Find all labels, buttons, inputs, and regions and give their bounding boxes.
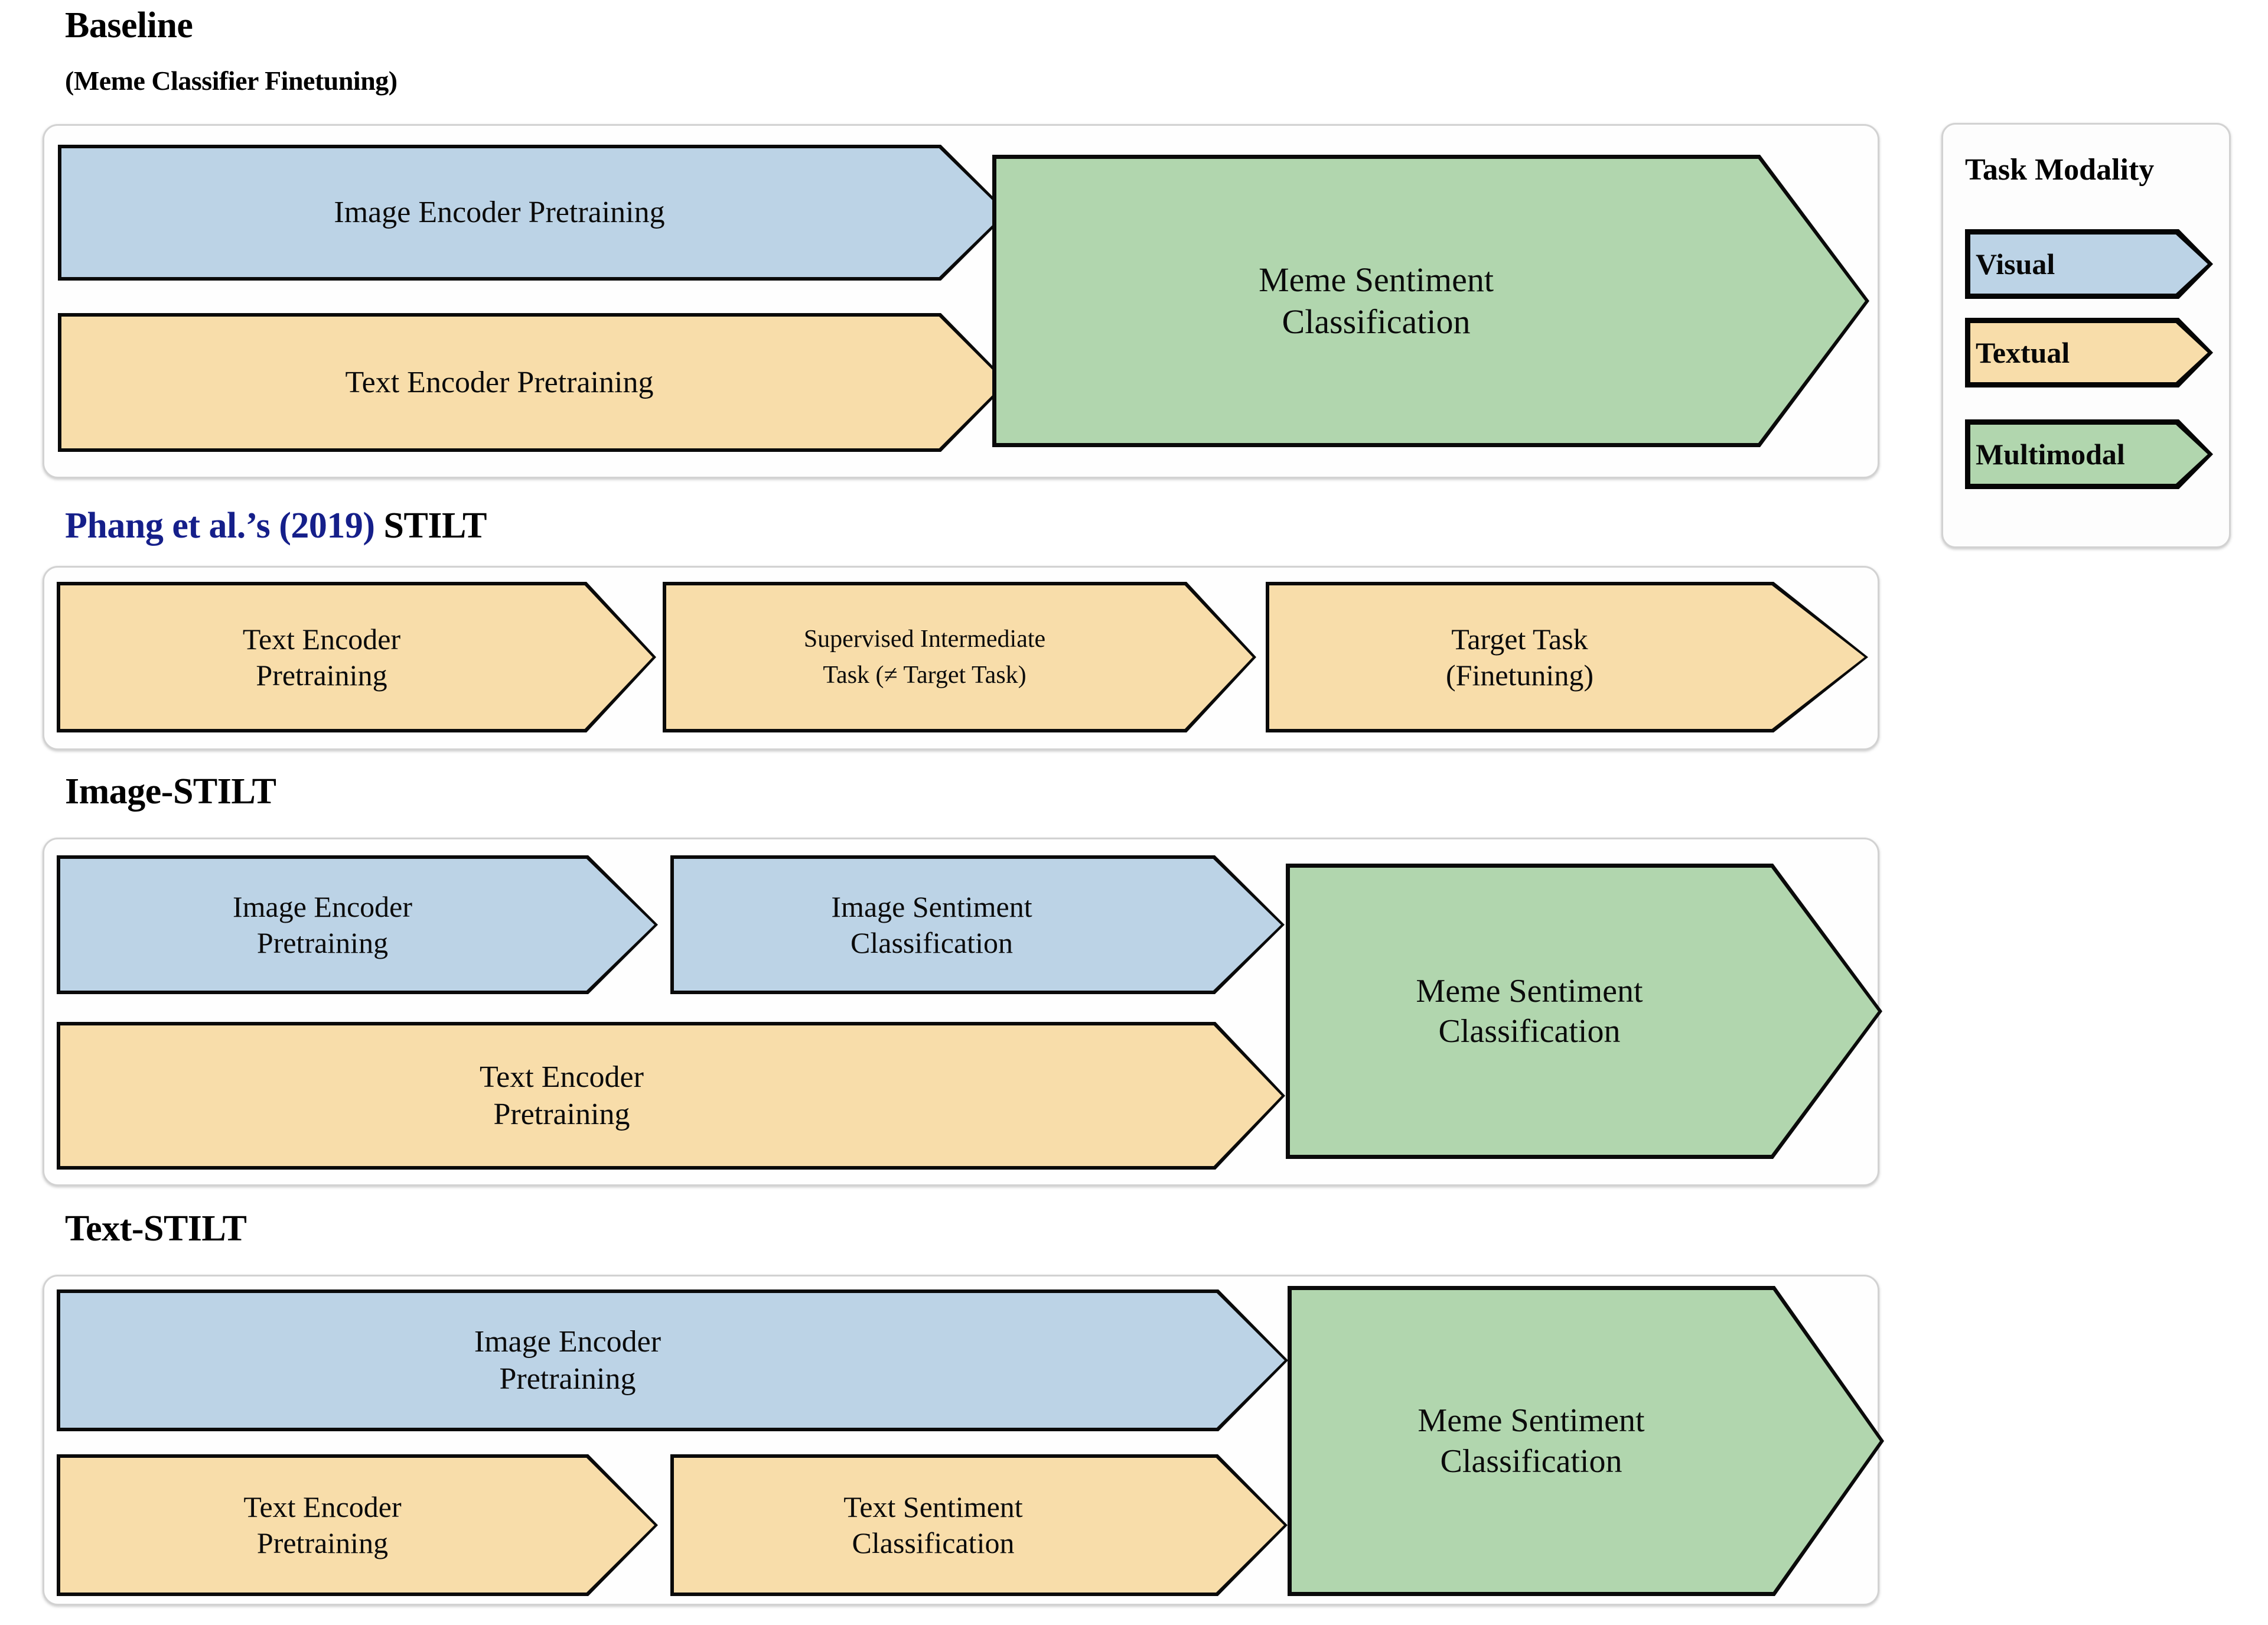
arrow-label-line1: Text Sentiment — [843, 1490, 1022, 1523]
arrow-label-line1: Text Encoder — [243, 623, 400, 656]
section-title-text-stilt: Text-STILT — [65, 1208, 246, 1250]
legend-item-textual[interactable]: Textual — [1965, 318, 2213, 387]
figure-canvas: Baseline (Meme Classifier Finetuning) Im… — [0, 0, 2268, 1625]
arrow-target-task-finetuning-phang[interactable]: Target Task (Finetuning) — [1266, 582, 1868, 732]
legend-item-multimodal[interactable]: Multimodal — [1965, 419, 2213, 489]
arrow-label: Text Encoder Pretraining — [237, 1489, 407, 1561]
arrow-label: Meme Sentiment Classification — [1410, 971, 1648, 1052]
image-stilt-title: Image-STILT — [65, 771, 276, 812]
arrow-label-line1: Image Encoder — [474, 1325, 661, 1359]
arrow-text-encoder-pretraining-phang[interactable]: Text Encoder Pretraining — [57, 582, 656, 732]
arrow-label-line2: Pretraining — [499, 1362, 636, 1396]
arrow-label-line1: Meme Sentiment — [1259, 260, 1494, 299]
arrow-label-line2: Classification — [852, 1526, 1015, 1559]
arrow-label-line2: Pretraining — [257, 1526, 388, 1559]
arrow-label: Text Encoder Pretraining — [237, 621, 406, 693]
phang-title-black: STILT — [375, 506, 487, 546]
section-title-phang-stilt: Phang et al.’s (2019) STILT — [65, 505, 487, 547]
baseline-title-line1: Baseline — [65, 5, 193, 45]
text-stilt-title: Text-STILT — [65, 1209, 246, 1249]
arrow-label-line2: (Finetuning) — [1446, 659, 1594, 692]
arrow-text-encoder-pretraining-text-stilt[interactable]: Text Encoder Pretraining — [57, 1454, 658, 1596]
arrow-label-line2: Classification — [1282, 302, 1471, 341]
arrow-image-encoder-pretraining-baseline[interactable]: Image Encoder Pretraining — [58, 145, 1009, 281]
arrow-supervised-intermediate-task-phang[interactable]: Supervised Intermediate Task (≠ Target T… — [663, 582, 1256, 732]
arrow-label-line1: Image Encoder Pretraining — [334, 196, 664, 229]
arrow-image-encoder-pretraining-text-stilt[interactable]: Image Encoder Pretraining — [57, 1289, 1288, 1431]
arrow-label: Text Encoder Pretraining — [474, 1059, 650, 1134]
arrow-label-line1: Text Encoder — [480, 1060, 644, 1094]
arrow-label-line2: Pretraining — [493, 1098, 630, 1131]
arrow-label: Text Sentiment Classification — [838, 1489, 1028, 1561]
legend-label: Textual — [1965, 336, 2070, 370]
arrow-label-line2: Pretraining — [257, 926, 388, 959]
arrow-label-line2: Classification — [1441, 1443, 1622, 1480]
arrow-label-line1: Target Task — [1451, 623, 1588, 656]
arrow-label-line1: Image Encoder — [233, 890, 412, 923]
legend-label: Visual — [1965, 247, 2055, 281]
arrow-text-encoder-pretraining-baseline[interactable]: Text Encoder Pretraining — [58, 313, 1009, 452]
arrow-meme-sentiment-classification-image-stilt[interactable]: Meme Sentiment Classification — [1286, 864, 1882, 1159]
arrow-label-line2: Task (≠ Target Task) — [823, 662, 1026, 689]
legend-title: Task Modality — [1965, 152, 2154, 187]
legend-title-text: Task Modality — [1965, 153, 2154, 187]
arrow-label-line1: Meme Sentiment — [1416, 973, 1643, 1009]
chevron-shape — [57, 1289, 1288, 1431]
arrow-label-line1: Meme Sentiment — [1417, 1402, 1644, 1439]
arrow-text-sentiment-classification-text-stilt[interactable]: Text Sentiment Classification — [670, 1454, 1288, 1596]
arrow-label: Meme Sentiment Classification — [1253, 259, 1500, 343]
arrow-label: Target Task (Finetuning) — [1440, 621, 1599, 693]
arrow-label-line1: Text Encoder Pretraining — [346, 366, 654, 399]
phang-title-blue: Phang et al.’s (2019) — [65, 506, 375, 546]
arrow-label-line2: Classification — [1439, 1013, 1621, 1050]
arrow-image-encoder-pretraining-image-stilt[interactable]: Image Encoder Pretraining — [57, 855, 658, 994]
arrow-label: Image Encoder Pretraining — [468, 1323, 667, 1398]
arrow-label-line1: Image Sentiment — [831, 890, 1032, 923]
legend-item-visual[interactable]: Visual — [1965, 229, 2213, 299]
arrow-label-line1: Text Encoder — [243, 1490, 401, 1523]
legend-label: Multimodal — [1965, 437, 2125, 471]
arrow-label: Image Encoder Pretraining — [227, 889, 418, 961]
section-subtitle-baseline: (Meme Classifier Finetuning) — [65, 65, 397, 96]
baseline-title-line2: (Meme Classifier Finetuning) — [65, 66, 397, 96]
arrow-label: Supervised Intermediate Task (≠ Target T… — [798, 621, 1051, 693]
chevron-shape — [57, 1022, 1285, 1170]
arrow-label: Image Encoder Pretraining — [328, 194, 670, 231]
arrow-label-line1: Supervised Intermediate — [804, 626, 1045, 653]
arrow-text-encoder-pretraining-image-stilt[interactable]: Text Encoder Pretraining — [57, 1022, 1285, 1170]
arrow-label: Meme Sentiment Classification — [1412, 1401, 1650, 1481]
arrow-image-sentiment-classification-image-stilt[interactable]: Image Sentiment Classification — [670, 855, 1285, 994]
section-title-baseline: Baseline — [65, 5, 193, 47]
arrow-label-line2: Pretraining — [256, 659, 387, 692]
arrow-label: Image Sentiment Classification — [825, 889, 1038, 961]
arrow-label: Text Encoder Pretraining — [340, 364, 660, 401]
arrow-meme-sentiment-classification-baseline[interactable]: Meme Sentiment Classification — [992, 155, 1869, 447]
arrow-meme-sentiment-classification-text-stilt[interactable]: Meme Sentiment Classification — [1288, 1286, 1884, 1596]
arrow-label-line2: Classification — [850, 926, 1013, 959]
section-title-image-stilt: Image-STILT — [65, 771, 276, 813]
